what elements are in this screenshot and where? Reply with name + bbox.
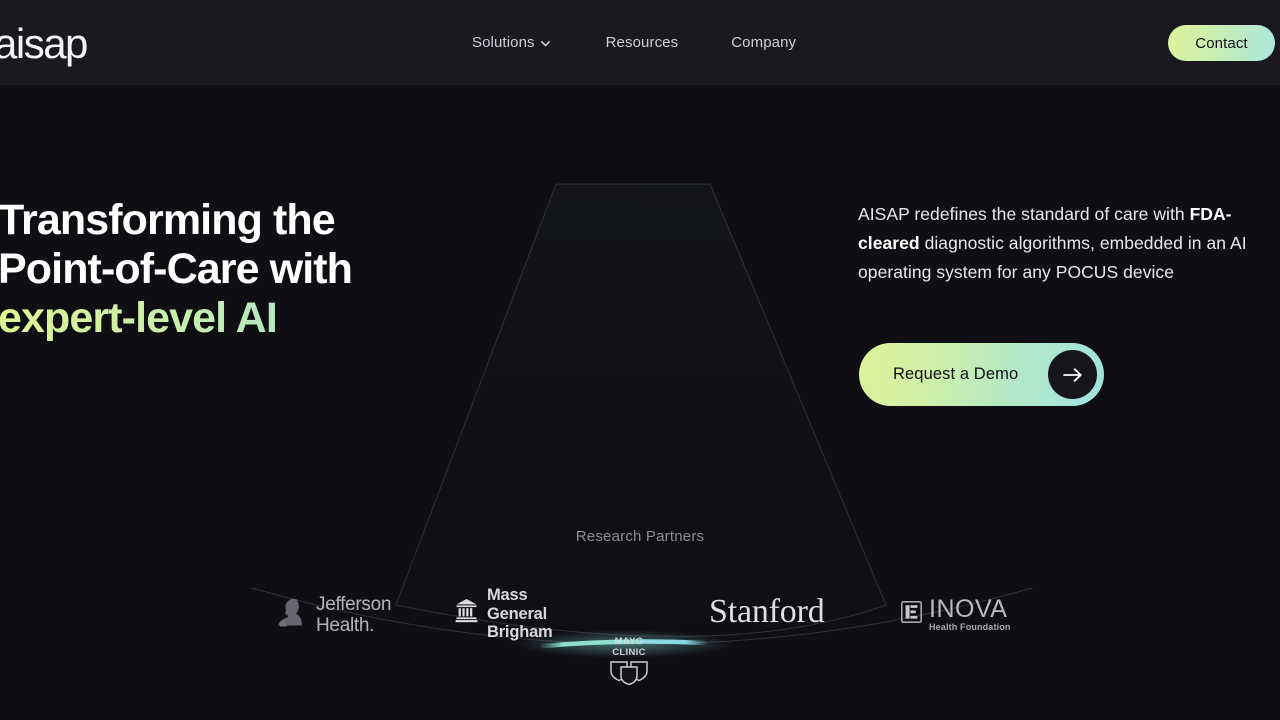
hero-description-block: AISAP redefines the standard of care wit… [858,200,1280,287]
logo-wordmark: aisap [0,23,87,65]
research-partners-title: Research Partners [0,528,1280,545]
contact-button-label: Contact [1195,35,1247,52]
nav-item-company[interactable]: Company [731,34,796,51]
partner-logo-row: Jefferson Health. [0,578,1280,638]
nav-item-company-label: Company [731,34,796,51]
mass-general-line-2: General [487,605,553,624]
contact-button[interactable]: Contact [1168,25,1275,61]
partner-logo-jefferson-health[interactable]: Jefferson Health. [277,594,391,636]
mayo-shields-icon [603,660,655,690]
partner-logo-stanford[interactable]: Stanford [709,594,825,630]
page-root: aisap Solutions Resources Company Contac… [0,0,1280,720]
inova-line-1: INOVA [929,596,1011,622]
partner-logo-mass-general-brigham[interactable]: Mass General Brigham [455,586,553,642]
jefferson-health-line-1: Jefferson [316,594,391,615]
inova-mark-icon [901,601,922,628]
mass-general-line-1: Mass [487,586,553,605]
request-demo-label: Request a Demo [893,365,1018,384]
arrow-right-icon [1048,350,1097,399]
chevron-down-icon [540,38,551,49]
mayo-clinic-line-1: MAYO [603,636,655,647]
partner-logo-mayo-clinic[interactable]: MAYO CLINIC [603,636,655,690]
mayo-clinic-line-2: CLINIC [603,647,655,658]
site-header: aisap Solutions Resources Company Contac… [0,0,1280,85]
headline-line-2: Point-of-Care with [0,245,468,294]
mass-general-brigham-name: Mass General Brigham [487,586,553,642]
ultrasound-cone-shape [396,184,886,637]
nav-item-resources[interactable]: Resources [606,34,679,51]
jefferson-health-name: Jefferson Health. [316,594,391,636]
nav-item-resources-label: Resources [606,34,679,51]
jefferson-health-line-2: Health. [316,615,391,636]
hero-paragraph-part1: AISAP redefines the standard of care wit… [858,204,1190,224]
research-partners-section: Research Partners Jefferson Health. [0,528,1280,545]
stanford-wordmark: Stanford [709,594,825,630]
mass-general-line-3: Brigham [487,623,553,642]
inova-line-2: Health Foundation [929,622,1011,633]
nav-item-solutions-label: Solutions [472,34,535,51]
headline-line-1: Transforming the [0,196,468,245]
hero-headline-block: Transforming the Point-of-Care with expe… [0,196,468,343]
partner-logo-inova-health-foundation[interactable]: INOVA Health Foundation [901,596,1011,633]
inova-name: INOVA Health Foundation [929,596,1011,633]
nav-item-solutions[interactable]: Solutions [472,34,551,51]
request-demo-button[interactable]: Request a Demo [859,343,1104,406]
mass-general-building-icon [455,598,478,629]
headline-line-3-accent: expert-level AI [0,294,468,343]
main-navigation: Solutions Resources Company [472,0,796,85]
logo[interactable]: aisap [0,20,104,66]
hero-paragraph: AISAP redefines the standard of care wit… [858,200,1280,287]
jefferson-bust-icon [277,596,307,635]
